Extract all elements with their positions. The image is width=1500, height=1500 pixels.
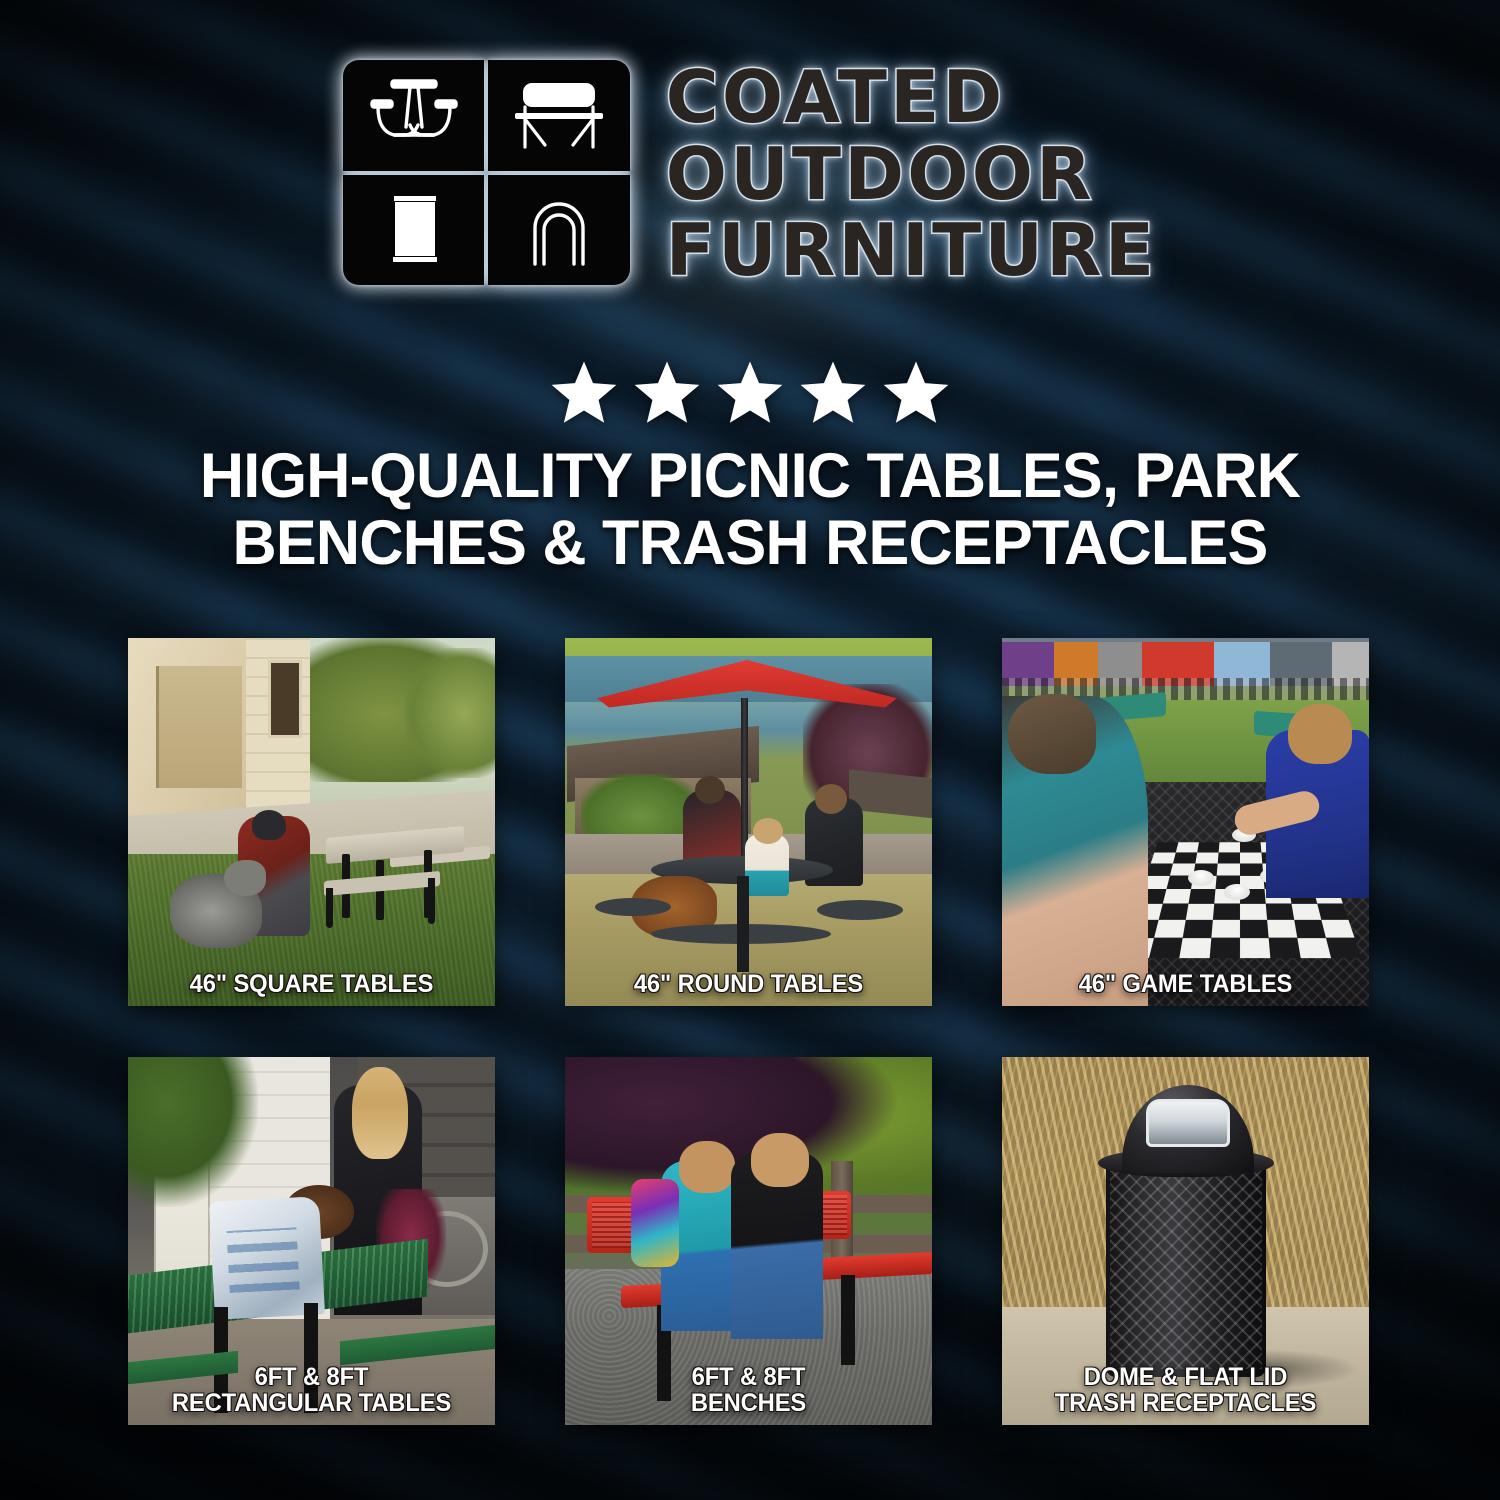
tile-caption-line-1: 6FT & 8FT <box>692 1363 806 1391</box>
product-tile-trash-receptacles[interactable]: DOME & FLAT LID TRASH RECEPTACLES <box>1002 1057 1369 1425</box>
game-tables-photo <box>1002 638 1369 1006</box>
product-category-grid: 46" SQUARE TABLES <box>128 638 1372 1425</box>
star-rating <box>0 358 1500 428</box>
brand-name-line-3: FURNITURE <box>666 215 1158 286</box>
tile-caption-line-1: 46" GAME TABLES <box>1079 970 1293 998</box>
tile-caption-line-1: DOME & FLAT LID <box>1084 1363 1288 1391</box>
product-tile-round-tables[interactable]: 46" ROUND TABLES <box>565 638 932 1006</box>
bench-icon <box>488 60 630 171</box>
picnic-table-icon <box>343 60 485 171</box>
brand-name: COATED OUTDOOR FURNITURE <box>666 60 1158 286</box>
tile-caption: DOME & FLAT LID TRASH RECEPTACLES <box>1011 1364 1360 1416</box>
brand-name-line-2: OUTDOOR <box>666 139 1158 210</box>
star-icon <box>548 358 620 428</box>
tile-caption: 6FT & 8FT RECTANGULAR TABLES <box>137 1364 486 1416</box>
company-logo-mark <box>343 60 630 285</box>
tile-caption-line-2: RECTANGULAR TABLES <box>137 1390 486 1416</box>
star-icon <box>631 358 703 428</box>
page-title: HIGH-QUALITY PICNIC TABLES, PARK BENCHES… <box>23 443 1478 577</box>
square-tables-photo <box>128 638 495 1006</box>
product-tile-square-tables[interactable]: 46" SQUARE TABLES <box>128 638 495 1006</box>
tile-caption-line-2: BENCHES <box>574 1390 923 1416</box>
brand-header: COATED OUTDOOR FURNITURE <box>0 60 1500 286</box>
tile-caption: 46" SQUARE TABLES <box>137 971 486 997</box>
round-tables-photo <box>565 638 932 1006</box>
advertisement-banner: COATED OUTDOOR FURNITURE HIGH-QUALITY PI… <box>0 0 1500 1500</box>
tile-caption-line-1: 46" SQUARE TABLES <box>190 970 434 998</box>
tile-caption: 46" ROUND TABLES <box>574 971 923 997</box>
tile-caption-line-1: 6FT & 8FT <box>255 1363 369 1391</box>
tile-caption-line-1: 46" ROUND TABLES <box>634 970 863 998</box>
headline-line-2: BENCHES & TRASH RECEPTACLES <box>23 510 1478 577</box>
star-icon <box>880 358 952 428</box>
bike-rack-arch-icon <box>488 175 630 286</box>
tile-caption: 6FT & 8FT BENCHES <box>574 1364 923 1416</box>
trash-receptacle-icon <box>343 175 485 286</box>
product-tile-benches[interactable]: 6FT & 8FT BENCHES <box>565 1057 932 1425</box>
headline-line-1: HIGH-QUALITY PICNIC TABLES, PARK <box>200 441 1300 511</box>
star-icon <box>714 358 786 428</box>
star-icon <box>797 358 869 428</box>
product-tile-rectangular-tables[interactable]: 6FT & 8FT RECTANGULAR TABLES <box>128 1057 495 1425</box>
brand-name-line-1: COATED <box>666 62 1158 133</box>
tile-caption-line-2: TRASH RECEPTACLES <box>1011 1390 1360 1416</box>
tile-caption: 46" GAME TABLES <box>1011 971 1360 997</box>
product-tile-game-tables[interactable]: 46" GAME TABLES <box>1002 638 1369 1006</box>
